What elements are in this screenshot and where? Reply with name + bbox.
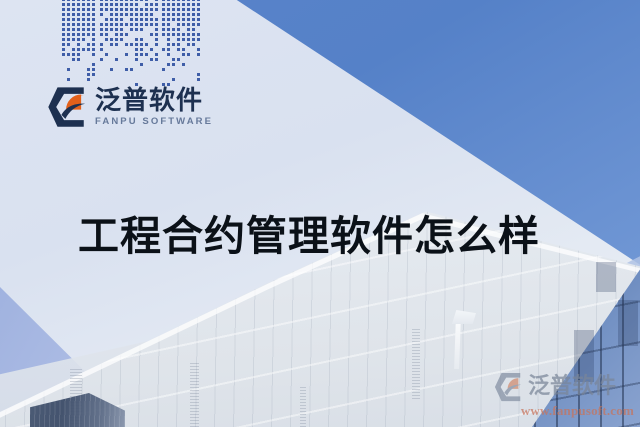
- skyline-pixel: [62, 58, 65, 61]
- skyline-pixel: [187, 58, 190, 61]
- skyline-pixel: [72, 48, 75, 51]
- skyline-pixel: [115, 48, 118, 51]
- skyline-pixel: [197, 18, 200, 21]
- skyline-pixel: [92, 38, 95, 41]
- skyline-pixel: [182, 58, 185, 61]
- skyline-pixel: [115, 73, 118, 76]
- skyline-pixel: [150, 48, 153, 51]
- skyline-pixel: [187, 43, 190, 46]
- skyline-pixel: [197, 8, 200, 11]
- skyline-pixel: [182, 53, 185, 56]
- skyline-pixel: [92, 33, 95, 36]
- skyline-pixel: [67, 73, 70, 76]
- skyline-pixel: [140, 33, 143, 36]
- skyline-pixel: [177, 0, 180, 1]
- skyline-pixel: [82, 38, 85, 41]
- skyline-pixel: [110, 38, 113, 41]
- skyline-pixel: [167, 63, 170, 66]
- skyline-pixel: [145, 13, 148, 16]
- skyline-pixel: [155, 0, 158, 1]
- skyline-pixel: [135, 8, 138, 11]
- skyline-pixel: [67, 13, 70, 16]
- skyline-pixel: [167, 13, 170, 16]
- glass-tower-pane: [618, 300, 638, 346]
- skyline-pixel: [140, 0, 143, 1]
- skyline-pixel: [92, 18, 95, 21]
- skyline-pixel: [167, 78, 170, 81]
- skyline-pixel: [155, 8, 158, 11]
- skyline-pixel: [62, 38, 65, 41]
- skyline-pixel: [150, 58, 153, 61]
- skyline-pixel: [130, 38, 133, 41]
- skyline-pixel: [120, 68, 123, 71]
- skyline-pixel: [172, 8, 175, 11]
- skyline-pixel: [197, 0, 200, 1]
- skyline-pixel: [100, 38, 103, 41]
- skyline-pixel: [197, 68, 200, 71]
- skyline-pixel: [155, 78, 158, 81]
- skyline-pixel: [172, 48, 175, 51]
- skyline-pixel: [192, 33, 195, 36]
- skyline-pixel: [192, 58, 195, 61]
- skyline-pixel: [167, 43, 170, 46]
- facade-louver-detail: [300, 387, 306, 427]
- skyline-pixel: [130, 73, 133, 76]
- skyline-pixel: [100, 23, 103, 26]
- skyline-pixel: [120, 73, 123, 76]
- skyline-pixel: [145, 28, 148, 31]
- skyline-pixel: [115, 28, 118, 31]
- skyline-pixel: [162, 0, 165, 1]
- skyline-pixel: [125, 0, 128, 1]
- skyline-pixel: [100, 18, 103, 21]
- skyline-pixel: [87, 48, 90, 51]
- skyline-pixel: [167, 3, 170, 6]
- skyline-pixel: [167, 68, 170, 71]
- banner-image: 泛普软件 FANPU SOFTWARE 工程合约管理软件怎么样 泛普软件 www…: [0, 0, 640, 427]
- skyline-pixel: [100, 8, 103, 11]
- skyline-pixel: [192, 78, 195, 81]
- skyline-pixel: [140, 13, 143, 16]
- skyline-pixel: [92, 0, 95, 1]
- skyline-pixel: [87, 68, 90, 71]
- skyline-pixel: [77, 0, 80, 1]
- skyline-pixel: [105, 53, 108, 56]
- skyline-pixel: [67, 58, 70, 61]
- skyline-pixel: [130, 53, 133, 56]
- skyline-pixel: [92, 53, 95, 56]
- skyline-pixel: [187, 63, 190, 66]
- skyline-pixel: [72, 63, 75, 66]
- skyline-pixel: [72, 3, 75, 6]
- skyline-pixel: [182, 23, 185, 26]
- skyline-pixel: [167, 53, 170, 56]
- skyline-pixel: [162, 73, 165, 76]
- logo: 泛普软件 FANPU SOFTWARE: [47, 86, 213, 128]
- skyline-pixel: [92, 48, 95, 51]
- skyline-pixel: [92, 23, 95, 26]
- skyline-pixel: [177, 33, 180, 36]
- skyline-pixel: [187, 73, 190, 76]
- skyline-pixel: [192, 3, 195, 6]
- skyline-pixel: [135, 33, 138, 36]
- skyline-pixel: [155, 58, 158, 61]
- skyline-pixel: [120, 18, 123, 21]
- skyline-pixel: [125, 53, 128, 56]
- skyline-pixel: [125, 18, 128, 21]
- skyline-pixel: [100, 3, 103, 6]
- skyline-pixel: [162, 23, 165, 26]
- skyline-pixel: [77, 8, 80, 11]
- skyline-pixel: [87, 33, 90, 36]
- watermark: 泛普软件 www.fanpusoft.com: [494, 372, 634, 419]
- skyline-pixel: [77, 48, 80, 51]
- skyline-pixel: [182, 0, 185, 1]
- skyline-pixel: [82, 63, 85, 66]
- skyline-pixel: [77, 43, 80, 46]
- skyline-pixel: [155, 23, 158, 26]
- skyline-pixel: [130, 43, 133, 46]
- skyline-pixel: [62, 3, 65, 6]
- skyline-pixel: [105, 63, 108, 66]
- skyline-pixel: [140, 8, 143, 11]
- skyline-pixel: [177, 68, 180, 71]
- skyline-pixel: [120, 28, 123, 31]
- skyline-pixel: [92, 8, 95, 11]
- skyline-pixel: [150, 63, 153, 66]
- skyline-pixel: [115, 68, 118, 71]
- skyline-pixel: [82, 0, 85, 1]
- skyline-pixel: [67, 23, 70, 26]
- skyline-pixel: [92, 78, 95, 81]
- skyline-pixel: [197, 58, 200, 61]
- skyline-pixel: [172, 73, 175, 76]
- skyline-pixel: [120, 23, 123, 26]
- skyline-pixel: [172, 43, 175, 46]
- skyline-pixel: [135, 48, 138, 51]
- skyline-pixel: [172, 23, 175, 26]
- skyline-pixel: [182, 28, 185, 31]
- skyline-pixel: [115, 13, 118, 16]
- skyline-pixel: [110, 53, 113, 56]
- fanpu-hexagon-swoosh-icon: [494, 372, 524, 402]
- skyline-pixel: [92, 13, 95, 16]
- skyline-pixel: [182, 43, 185, 46]
- skyline-pixel: [87, 18, 90, 21]
- skyline-pixel: [172, 58, 175, 61]
- skyline-pixel: [145, 48, 148, 51]
- skyline-pixel: [167, 58, 170, 61]
- skyline-pixel: [72, 38, 75, 41]
- skyline-pixel: [67, 0, 70, 1]
- skyline-pixel: [77, 28, 80, 31]
- skyline-pixel: [145, 18, 148, 21]
- skyline-pixel: [150, 53, 153, 56]
- skyline-pixel: [167, 48, 170, 51]
- skyline-pixel: [145, 23, 148, 26]
- skyline-pixel: [115, 18, 118, 21]
- skyline-pixel: [135, 53, 138, 56]
- skyline-pixel: [110, 23, 113, 26]
- facade-louver-detail: [412, 327, 420, 399]
- skyline-pixel: [77, 63, 80, 66]
- skyline-pixel: [77, 23, 80, 26]
- skyline-pixel: [167, 73, 170, 76]
- skyline-pixel: [192, 53, 195, 56]
- skyline-pixel: [82, 78, 85, 81]
- skyline-pixel: [155, 53, 158, 56]
- skyline-pixel: [167, 8, 170, 11]
- skyline-pixel: [162, 63, 165, 66]
- skyline-pixel: [177, 58, 180, 61]
- skyline-pixel: [87, 8, 90, 11]
- skyline-pixel: [72, 18, 75, 21]
- skyline-pixel: [145, 3, 148, 6]
- skyline-pixel: [72, 58, 75, 61]
- skyline-pixel: [67, 63, 70, 66]
- skyline-pixel: [72, 13, 75, 16]
- skyline-pixel: [172, 28, 175, 31]
- skyline-pixel: [87, 73, 90, 76]
- skyline-pixel: [145, 78, 148, 81]
- skyline-pixel: [162, 48, 165, 51]
- skyline-pixel: [140, 78, 143, 81]
- skyline-pixel: [182, 33, 185, 36]
- skyline-pixel: [125, 8, 128, 11]
- skyline-pixel: [125, 43, 128, 46]
- skyline-pixel: [187, 53, 190, 56]
- skyline-pixel: [177, 48, 180, 51]
- skyline-pixel: [115, 43, 118, 46]
- skyline-pixel: [77, 73, 80, 76]
- skyline-pixel: [187, 18, 190, 21]
- skyline-pixel: [100, 53, 103, 56]
- skyline-pixel: [177, 3, 180, 6]
- skyline-pixel: [140, 68, 143, 71]
- skyline-pixel: [177, 8, 180, 11]
- skyline-pixel: [100, 33, 103, 36]
- skyline-pixel: [125, 13, 128, 16]
- skyline-center-tower: [100, 0, 158, 88]
- skyline-pixel: [155, 33, 158, 36]
- skyline-pixel: [155, 28, 158, 31]
- skyline-pixel: [140, 18, 143, 21]
- skyline-pixel: [140, 28, 143, 31]
- fanpu-hexagon-swoosh-icon: [47, 86, 89, 128]
- skyline-pixel: [62, 13, 65, 16]
- skyline-pixel: [115, 58, 118, 61]
- skyline-pixel: [62, 48, 65, 51]
- skyline-pixel: [125, 68, 128, 71]
- skyline-pixel: [120, 38, 123, 41]
- skyline-pixel: [67, 38, 70, 41]
- skyline-pixel: [67, 43, 70, 46]
- skyline-pixel: [182, 38, 185, 41]
- skyline-pixel: [177, 13, 180, 16]
- skyline-pixel: [140, 38, 143, 41]
- skyline-pixel: [130, 48, 133, 51]
- skyline-pixel: [120, 0, 123, 1]
- skyline-pixel: [162, 13, 165, 16]
- skyline-pixel: [115, 63, 118, 66]
- skyline-pixel: [155, 38, 158, 41]
- skyline-pixel: [62, 53, 65, 56]
- skyline-pixel: [125, 73, 128, 76]
- skyline-pixel: [187, 28, 190, 31]
- skyline-pixel: [192, 43, 195, 46]
- skyline-pixel: [172, 53, 175, 56]
- skyline-pixel: [100, 43, 103, 46]
- skyline-pixel: [145, 63, 148, 66]
- skyline-pixel: [167, 28, 170, 31]
- skyline-pixel: [115, 8, 118, 11]
- skyline-pixel: [155, 3, 158, 6]
- skyline-pixel: [62, 68, 65, 71]
- skyline-pixel: [120, 48, 123, 51]
- logo-name-en: FANPU SOFTWARE: [95, 117, 213, 127]
- skyline-pixel: [197, 48, 200, 51]
- skyline-left-tower: [62, 0, 95, 88]
- skyline-pixel: [145, 53, 148, 56]
- skyline-pixel: [135, 68, 138, 71]
- skyline-pixel: [130, 3, 133, 6]
- skyline-pixel: [82, 73, 85, 76]
- skyline-pixel: [130, 18, 133, 21]
- skyline-pixel: [130, 68, 133, 71]
- skyline-pixel: [72, 33, 75, 36]
- skyline-pixel: [197, 33, 200, 36]
- skyline-pixel: [130, 33, 133, 36]
- skyline-pixel: [67, 33, 70, 36]
- skyline-pixel: [62, 73, 65, 76]
- skyline-pixel: [110, 8, 113, 11]
- skyline-pixel: [87, 63, 90, 66]
- skyline-pixel: [172, 38, 175, 41]
- skyline-pixel: [87, 3, 90, 6]
- skyline-pixel: [197, 43, 200, 46]
- skyline-pixel: [145, 68, 148, 71]
- skyline-pixel: [150, 33, 153, 36]
- skyline-pixel: [72, 23, 75, 26]
- skyline-pixel: [77, 38, 80, 41]
- skyline-pixel: [155, 13, 158, 16]
- skyline-pixel: [140, 3, 143, 6]
- skyline-pixel: [187, 48, 190, 51]
- skyline-pixel: [177, 18, 180, 21]
- skyline-pixel: [162, 38, 165, 41]
- skyline-pixel: [72, 68, 75, 71]
- skyline-pixel: [115, 33, 118, 36]
- skyline-pixel: [72, 0, 75, 1]
- skyline-pixel: [105, 48, 108, 51]
- skyline-pixel: [167, 33, 170, 36]
- skyline-pixel: [177, 63, 180, 66]
- skyline-pixel: [182, 68, 185, 71]
- skyline-pixel: [105, 28, 108, 31]
- skyline-pixel: [87, 53, 90, 56]
- skyline-pixel: [197, 73, 200, 76]
- skyline-pixel: [77, 13, 80, 16]
- skyline-pixel: [197, 53, 200, 56]
- skyline-pixel: [100, 13, 103, 16]
- skyline-pixel: [105, 0, 108, 1]
- skyline-pixel: [140, 53, 143, 56]
- skyline-pixel: [150, 3, 153, 6]
- skyline-pixel: [100, 58, 103, 61]
- skyline-pixel: [82, 28, 85, 31]
- skyline-pixel: [130, 63, 133, 66]
- skyline-pixel: [120, 13, 123, 16]
- skyline-pixel: [150, 28, 153, 31]
- skyline-pixel: [135, 58, 138, 61]
- skyline-pixel: [155, 68, 158, 71]
- skyline-pixel: [182, 48, 185, 51]
- skyline-pixel: [130, 8, 133, 11]
- skyline-pixel: [162, 43, 165, 46]
- skyline-pixel: [135, 63, 138, 66]
- skyline-pixel: [192, 63, 195, 66]
- skyline-pixel: [162, 8, 165, 11]
- skyline-pixel: [87, 23, 90, 26]
- skyline-pixel: [140, 73, 143, 76]
- skyline-pixel: [105, 33, 108, 36]
- skyline-pixel: [110, 78, 113, 81]
- skyline-pixel: [82, 13, 85, 16]
- skyline-pixel: [110, 68, 113, 71]
- skyline-pixel: [120, 43, 123, 46]
- skyline-pixel: [92, 73, 95, 76]
- skyline-pixel: [135, 23, 138, 26]
- skyline-pixel: [105, 73, 108, 76]
- skyline-pixel: [100, 28, 103, 31]
- skyline-pixel: [150, 8, 153, 11]
- skyline-pixel: [87, 43, 90, 46]
- skyline-pixel: [145, 58, 148, 61]
- skyline-pixel: [72, 8, 75, 11]
- skyline-pixel: [182, 73, 185, 76]
- watermark-name-cn: 泛普软件: [528, 376, 616, 398]
- skyline-pixel: [192, 73, 195, 76]
- skyline-pixel: [197, 13, 200, 16]
- skyline-pixel: [82, 48, 85, 51]
- skyline-pixel: [82, 33, 85, 36]
- skyline-pixel: [87, 38, 90, 41]
- skyline-pixel: [172, 78, 175, 81]
- skyline-pixel: [100, 73, 103, 76]
- skyline-pixel: [182, 13, 185, 16]
- skyline-pixel: [177, 78, 180, 81]
- skyline-pixel: [135, 18, 138, 21]
- skyline-pixel: [87, 0, 90, 1]
- skyline-pixel: [192, 28, 195, 31]
- skyline-pixel: [187, 0, 190, 1]
- skyline-pixel: [62, 78, 65, 81]
- skyline-pixel: [192, 13, 195, 16]
- skyline-pixel: [150, 38, 153, 41]
- skyline-pixel: [77, 53, 80, 56]
- skyline-pixel: [115, 3, 118, 6]
- skyline-pixel: [182, 3, 185, 6]
- skyline-pixel: [82, 8, 85, 11]
- skyline-pixel: [110, 3, 113, 6]
- skyline-pixel: [105, 13, 108, 16]
- skyline-pixel: [72, 78, 75, 81]
- skyline-pixel: [62, 33, 65, 36]
- skyline-pixel: [92, 43, 95, 46]
- skyline-pixel: [62, 43, 65, 46]
- skyline-pixel: [105, 68, 108, 71]
- skyline-right-tower: [162, 0, 200, 88]
